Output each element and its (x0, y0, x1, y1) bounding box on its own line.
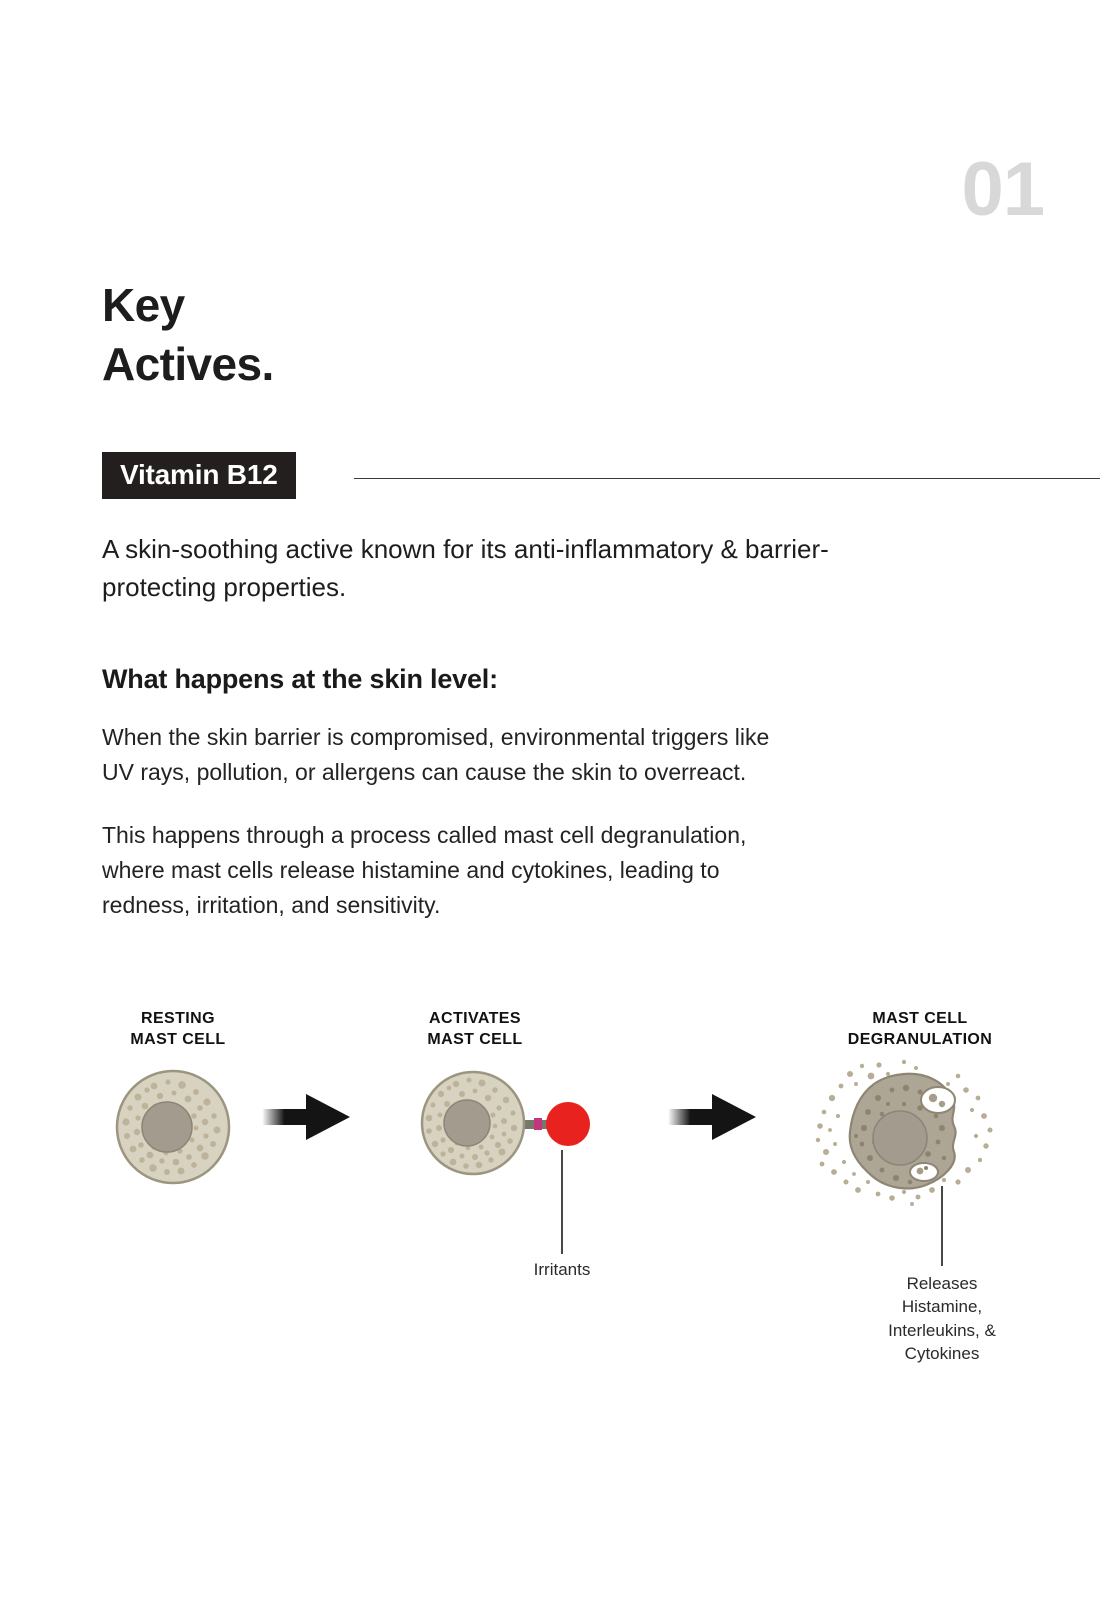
leader-line-releases (930, 1186, 954, 1266)
leader-line-irritants (550, 1150, 574, 1254)
degranulating-mast-cell-icon (808, 1054, 1000, 1206)
caption-irritants: Irritants (470, 1258, 654, 1281)
resting-mast-cell-icon (108, 1062, 238, 1192)
mast-cell-diagram: RESTING MAST CELL (0, 990, 1100, 1390)
page-title: Key Actives. (102, 276, 274, 394)
arrow-right-icon-1 (262, 1090, 350, 1144)
body-paragraph-1: When the skin barrier is compromised, en… (102, 720, 982, 790)
section-lede: A skin-soothing active known for its ant… (102, 530, 1002, 607)
section-badge-vitamin-b12: Vitamin B12 (102, 452, 296, 499)
body-subhead: What happens at the skin level: (102, 664, 498, 695)
body-paragraph-2: This happens through a process called ma… (102, 818, 982, 923)
section-header: Vitamin B12 (102, 452, 1100, 500)
page-canvas: 01 Key Actives. Vitamin B12 A skin-sooth… (0, 0, 1100, 1600)
section-rule (354, 478, 1100, 479)
page-number: 01 (961, 152, 1044, 228)
caption-releases: Releases Histamine, Interleukins, & Cyto… (852, 1272, 1032, 1366)
stage-label-activates: ACTIVATES MAST CELL (355, 1008, 595, 1050)
stage-label-degranulation: MAST CELL DEGRANULATION (790, 1008, 1050, 1050)
arrow-right-icon-2 (668, 1090, 756, 1144)
stage-label-resting: RESTING MAST CELL (58, 1008, 298, 1050)
